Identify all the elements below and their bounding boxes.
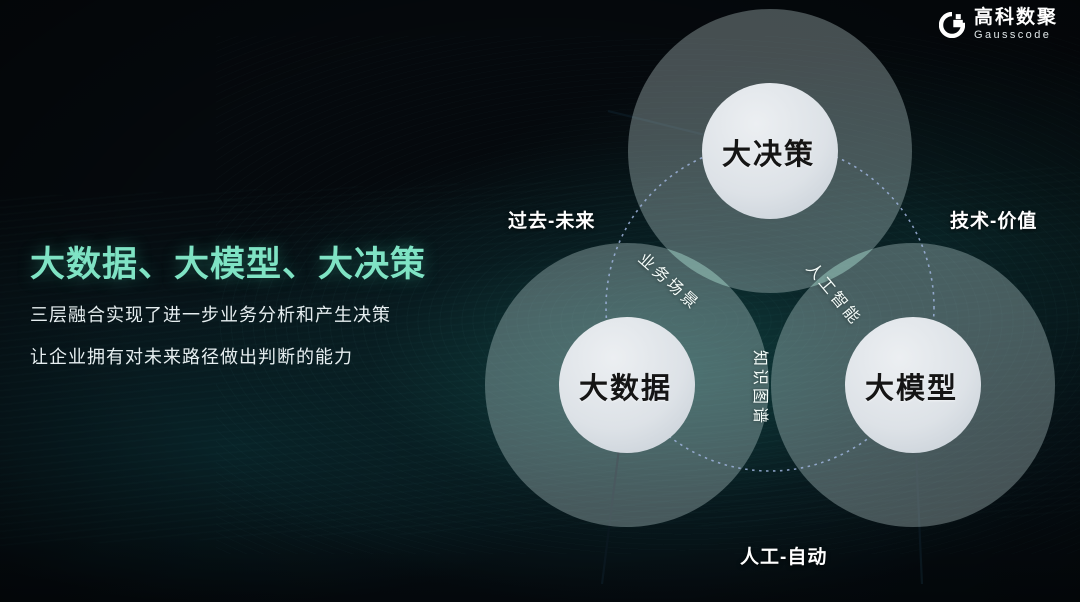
page-title: 大数据、大模型、大决策	[30, 246, 460, 285]
core-label-bigmodel: 大模型	[865, 365, 958, 407]
axis-label-manual-automatic: 人工-自动	[740, 542, 827, 569]
venn-svg	[490, 18, 1050, 584]
subtitle-line-1: 三层融合实现了进一步业务分析和产生决策	[30, 303, 460, 327]
slide-canvas: 高科数聚 Gausscode 大数据、大模型、大决策 三层融合实现了进一步业务分…	[0, 0, 1080, 602]
core-label-decision: 大决策	[722, 131, 815, 173]
venn-diagram: 大决策 大数据 大模型 业务场景 人工智能 知识图谱 过去-未来 技术-价值 人…	[490, 18, 1050, 584]
axis-label-tech-value: 技术-价值	[950, 206, 1037, 233]
core-label-bigdata: 大数据	[579, 365, 672, 407]
subtitle-line-2: 让企业拥有对未来路径做出判断的能力	[30, 345, 460, 369]
text-block: 大数据、大模型、大决策 三层融合实现了进一步业务分析和产生决策 让企业拥有对未来…	[30, 246, 460, 369]
intersection-label-knowledge-graph: 知识图谱	[750, 350, 774, 426]
axis-label-past-future: 过去-未来	[508, 206, 595, 233]
